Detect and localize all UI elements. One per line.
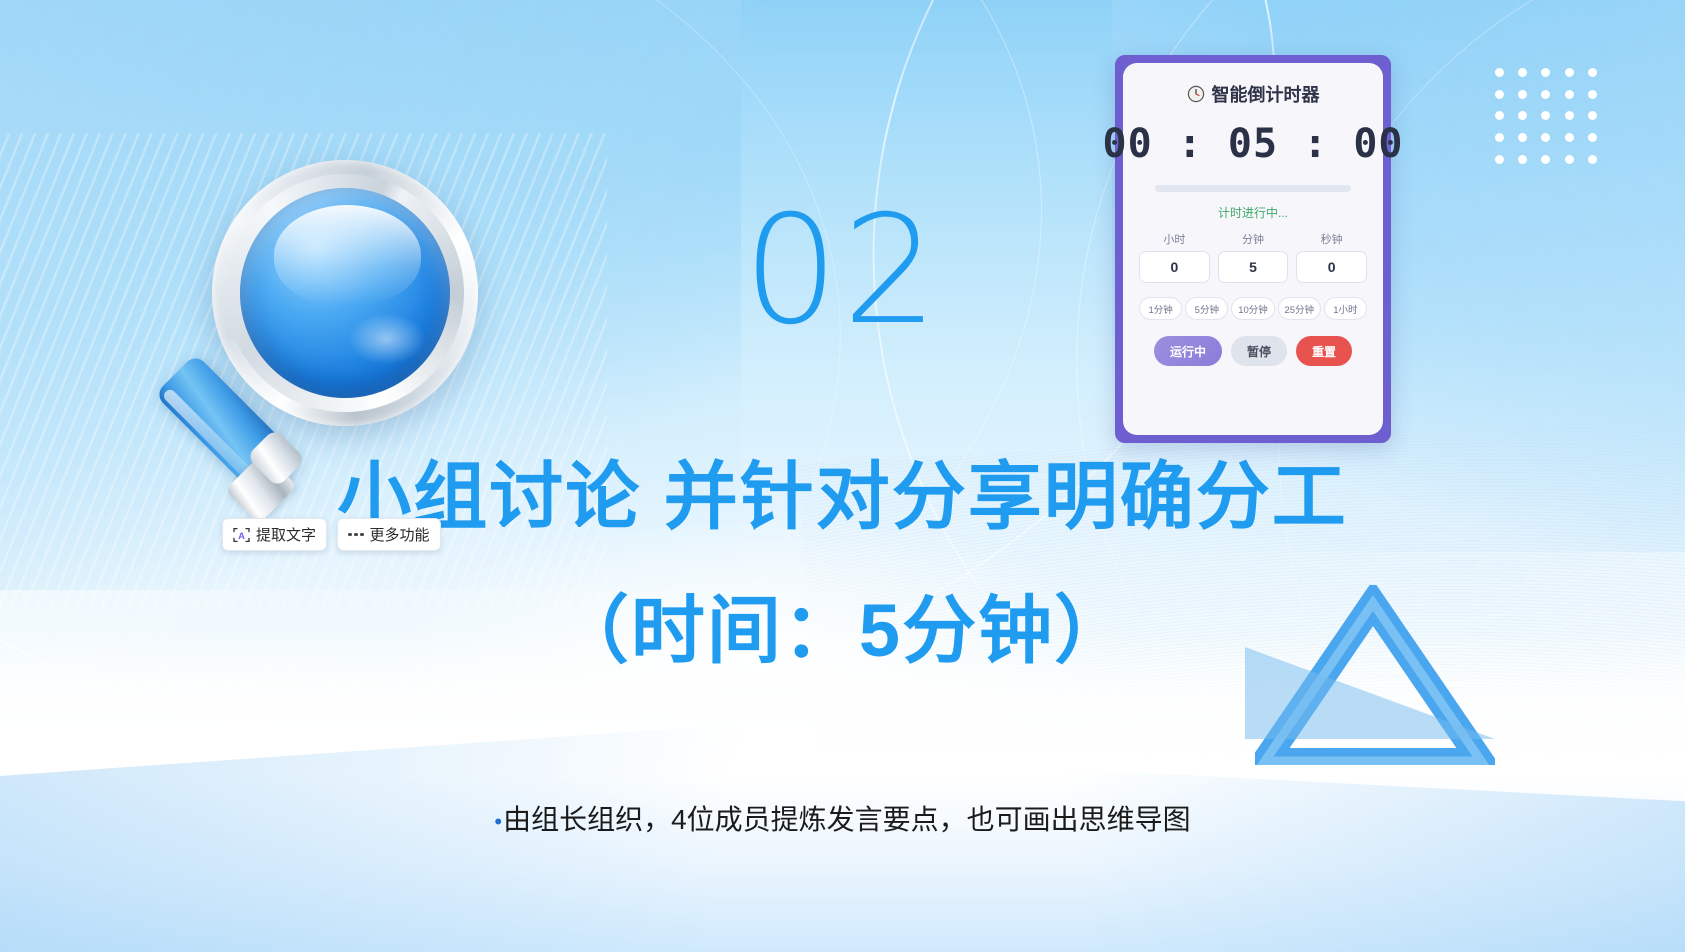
ocr-toolbar: A 提取文字 更多功能	[222, 518, 441, 551]
timer-button-row: 运行中 暂停 重置	[1139, 336, 1367, 366]
timer-title: 智能倒计时器	[1212, 81, 1320, 107]
page-subtitle: （时间：5分钟）	[0, 586, 1685, 676]
timer-unit-minutes: 分钟 5	[1218, 231, 1289, 283]
section-number: 02	[0, 196, 1685, 346]
hours-label: 小时	[1163, 231, 1185, 247]
timer-status: 计时进行中...	[1218, 204, 1288, 221]
minutes-label: 分钟	[1242, 231, 1264, 247]
slide-canvas: 02 小组讨论 并针对分享明确分工 （时间：5分钟） •由组长组织，4位成员提炼…	[0, 0, 1685, 952]
timer-run-button[interactable]: 运行中	[1154, 336, 1222, 366]
seconds-input[interactable]: 0	[1296, 251, 1367, 283]
countdown-timer-widget: 智能倒计时器 00 : 05 : 00 计时进行中... 小时 0 分钟 5 秒…	[1115, 55, 1391, 443]
bullet-text: 由组长组织，4位成员提炼发言要点，也可画出思维导图	[503, 804, 1191, 835]
extract-text-button[interactable]: A 提取文字	[222, 518, 327, 551]
more-functions-button[interactable]: 更多功能	[337, 518, 441, 551]
bullet-item: •由组长组织，4位成员提炼发言要点，也可画出思维导图	[0, 798, 1685, 838]
preset-10min[interactable]: 10分钟	[1231, 297, 1274, 320]
timer-pause-button[interactable]: 暂停	[1231, 336, 1287, 366]
timer-unit-hours: 小时 0	[1139, 231, 1210, 283]
preset-5min[interactable]: 5分钟	[1185, 297, 1228, 320]
timer-unit-seconds: 秒钟 0	[1296, 231, 1367, 283]
preset-1min[interactable]: 1分钟	[1139, 297, 1182, 320]
timer-card: 智能倒计时器 00 : 05 : 00 计时进行中... 小时 0 分钟 5 秒…	[1123, 63, 1383, 435]
preset-25min[interactable]: 25分钟	[1278, 297, 1321, 320]
extract-text-label: 提取文字	[256, 524, 316, 545]
more-dots-icon	[348, 533, 364, 537]
clock-icon	[1187, 85, 1205, 103]
timer-preset-row: 1分钟 5分钟 10分钟 25分钟 1小时	[1139, 297, 1367, 320]
bullet-marker-icon: •	[494, 809, 502, 834]
timer-progress-bar	[1155, 185, 1351, 192]
svg-text:A: A	[238, 531, 245, 542]
hours-input[interactable]: 0	[1139, 251, 1210, 283]
dot-grid-icon	[1488, 62, 1604, 170]
minutes-input[interactable]: 5	[1218, 251, 1289, 283]
timer-title-row: 智能倒计时器	[1187, 81, 1320, 107]
preset-1hour[interactable]: 1小时	[1324, 297, 1367, 320]
timer-unit-row: 小时 0 分钟 5 秒钟 0	[1139, 231, 1367, 283]
more-functions-label: 更多功能	[370, 524, 430, 545]
timer-display: 00 : 05 : 00	[1103, 121, 1404, 167]
timer-reset-button[interactable]: 重置	[1296, 336, 1352, 366]
extract-text-icon: A	[233, 527, 250, 543]
seconds-label: 秒钟	[1321, 231, 1343, 247]
